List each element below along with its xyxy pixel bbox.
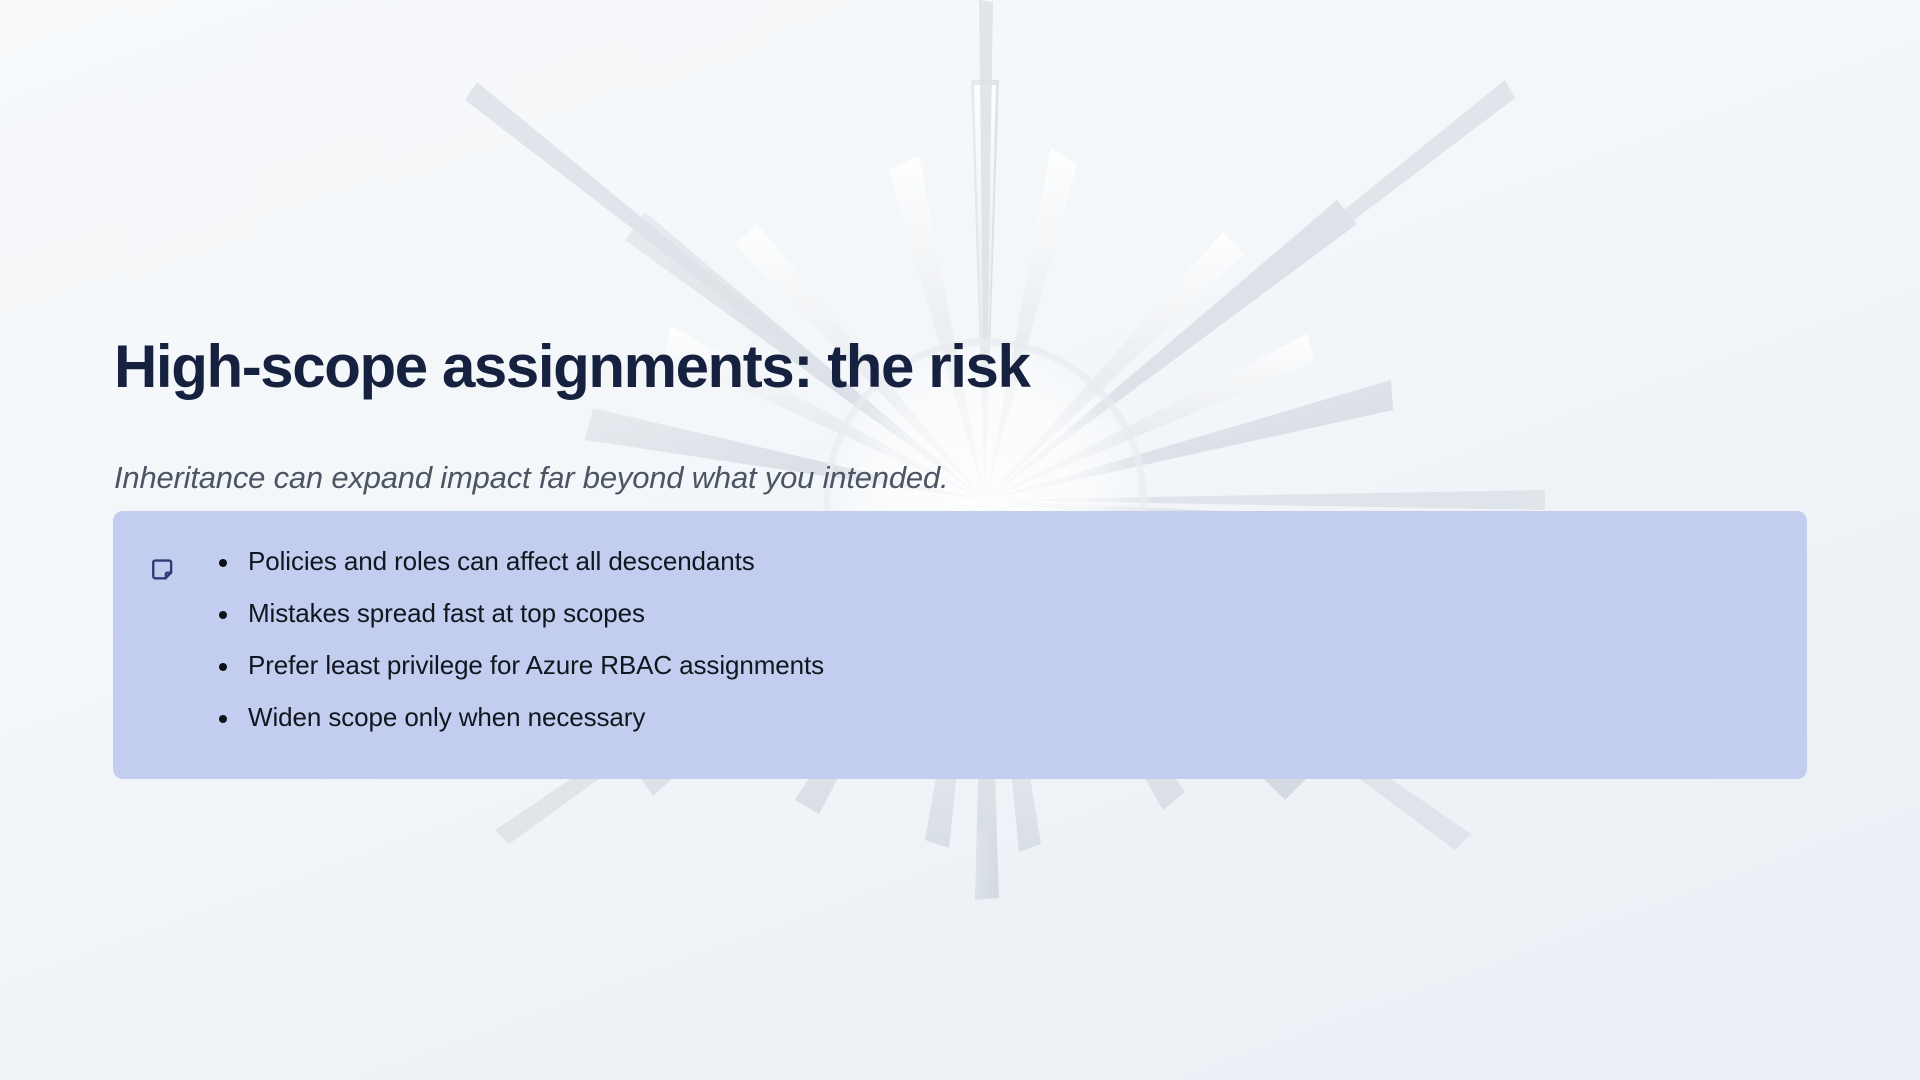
list-item: Prefer least privilege for Azure RBAC as… — [203, 652, 1777, 678]
bullet-list: Policies and roles can affect all descen… — [203, 537, 1777, 730]
sticky-note-icon — [147, 554, 177, 584]
list-item: Widen scope only when necessary — [203, 704, 1777, 730]
callout-panel: Policies and roles can affect all descen… — [113, 511, 1807, 779]
page-title: High-scope assignments: the risk — [114, 336, 1029, 397]
list-item: Mistakes spread fast at top scopes — [203, 600, 1777, 626]
list-item: Policies and roles can affect all descen… — [203, 548, 1777, 574]
slide-subtitle: Inheritance can expand impact far beyond… — [114, 459, 948, 496]
slide-canvas: High-scope assignments: the risk Inherit… — [0, 0, 1920, 1080]
